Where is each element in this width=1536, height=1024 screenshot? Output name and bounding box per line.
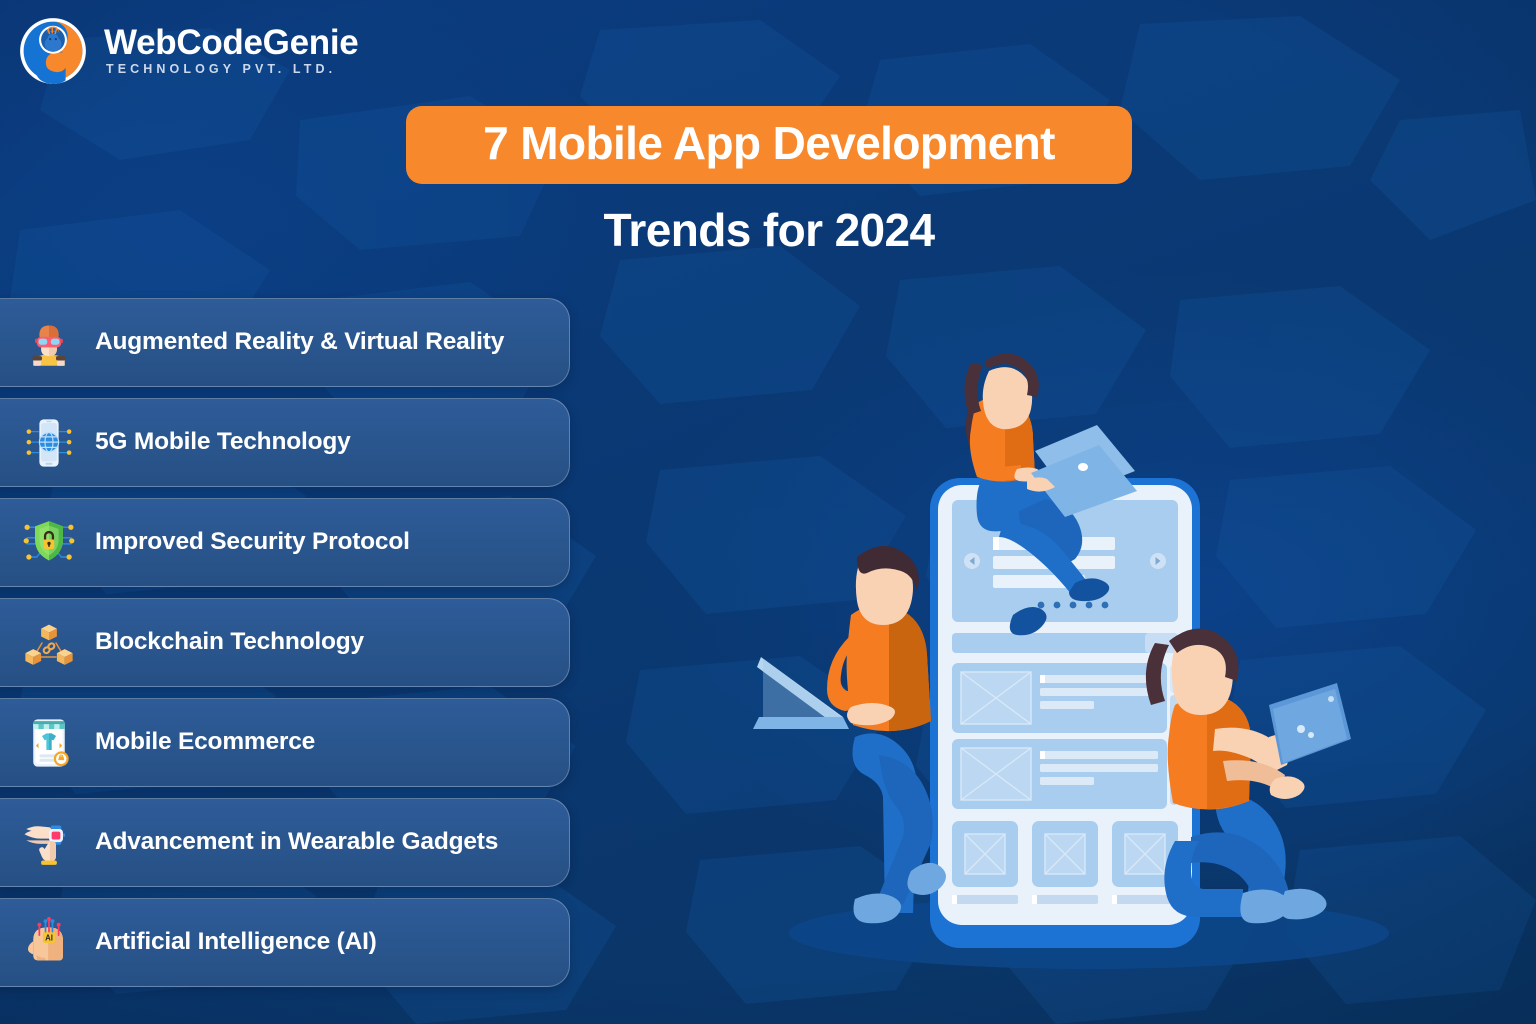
trend-label: Augmented Reality & Virtual Reality — [95, 328, 504, 356]
title-line-1: 7 Mobile App Development — [483, 119, 1055, 167]
mobile-shop-icon — [21, 715, 77, 771]
title-line-2: Trends for 2024 — [406, 206, 1132, 254]
vr-headset-person-icon — [21, 315, 77, 371]
svg-text:AI: AI — [45, 933, 53, 942]
ai-brain-head-icon: AI — [21, 915, 77, 971]
shield-lock-icon — [21, 515, 77, 571]
trend-item-ar-vr[interactable]: Augmented Reality & Virtual Reality — [0, 298, 570, 387]
smartwatch-hand-icon — [21, 815, 77, 871]
trends-list: Augmented Reality & Virtual Reality — [0, 298, 570, 998]
trend-item-5g[interactable]: 5G Mobile Technology — [0, 398, 570, 487]
trend-label: Blockchain Technology — [95, 628, 364, 656]
page-title: 7 Mobile App Development Trends for 2024 — [406, 106, 1132, 255]
trend-item-ai[interactable]: AI Artificial Intelligence (AI) — [0, 898, 570, 987]
woman-sitting-with-tablet — [1146, 628, 1351, 923]
trend-label: Artificial Intelligence (AI) — [95, 928, 377, 956]
man-walking-with-laptop — [753, 546, 946, 923]
trend-item-ecommerce[interactable]: Mobile Ecommerce — [0, 698, 570, 787]
carousel-next-arrow — [1150, 553, 1166, 569]
trend-item-wearables[interactable]: Advancement in Wearable Gadgets — [0, 798, 570, 887]
blockchain-cubes-icon — [21, 615, 77, 671]
carousel-prev-arrow — [964, 553, 980, 569]
webcodegenie-genie-logo-icon — [18, 16, 88, 86]
trend-label: 5G Mobile Technology — [95, 428, 351, 456]
list-card — [952, 739, 1167, 809]
brand-name: WebCodeGenie — [104, 25, 358, 61]
mobile-app-development-scene — [745, 285, 1425, 985]
brand-logo[interactable]: WebCodeGenie TECHNOLOGY PVT. LTD. — [18, 16, 358, 86]
list-card — [952, 663, 1167, 733]
phone-network-globe-icon — [21, 415, 77, 471]
trend-label: Mobile Ecommerce — [95, 728, 315, 756]
trend-item-blockchain[interactable]: Blockchain Technology — [0, 598, 570, 687]
trend-item-security[interactable]: Improved Security Protocol — [0, 498, 570, 587]
brand-tagline: TECHNOLOGY PVT. LTD. — [104, 62, 358, 77]
trend-label: Improved Security Protocol — [95, 528, 410, 556]
trend-label: Advancement in Wearable Gadgets — [95, 828, 498, 856]
title-pill: 7 Mobile App Development — [406, 106, 1132, 184]
